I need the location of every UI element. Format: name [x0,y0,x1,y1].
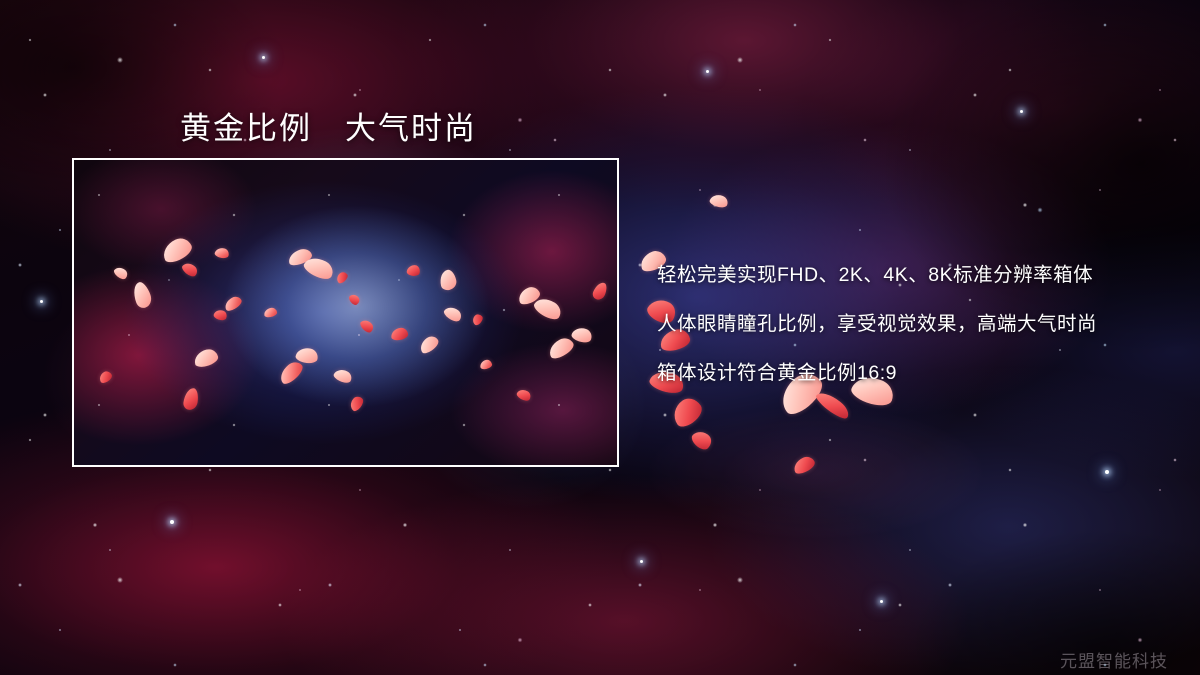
body-line-2: 人体眼睛瞳孔比例，享受视觉效果，高端大气时尚 [657,307,1097,336]
bright-star [40,300,43,303]
petal [814,388,853,422]
bright-star [262,56,265,59]
bright-star [1105,470,1109,474]
body-line-1: 轻松完美实现FHD、2K、4K、8K标准分辨率箱体 [657,258,1097,287]
petal [709,193,730,210]
petal [791,454,817,476]
bright-star [880,600,883,603]
presentation-slide: 黄金比例 大气时尚 [0,0,1200,675]
petal [668,394,706,431]
framed-image-starfield [74,160,617,465]
framed-image [72,158,619,467]
bright-star [640,560,643,563]
bright-star [1020,110,1023,113]
slide-title: 黄金比例 大气时尚 [180,103,477,148]
body-line-3: 箱体设计符合黄金比例16:9 [657,356,1097,385]
watermark: 元盟智能科技 [1060,647,1168,672]
bright-star [706,70,709,73]
petal [689,427,714,452]
bright-star [170,520,174,524]
body-text-block: 轻松完美实现FHD、2K、4K、8K标准分辨率箱体 人体眼睛瞳孔比例，享受视觉效… [657,258,1097,385]
